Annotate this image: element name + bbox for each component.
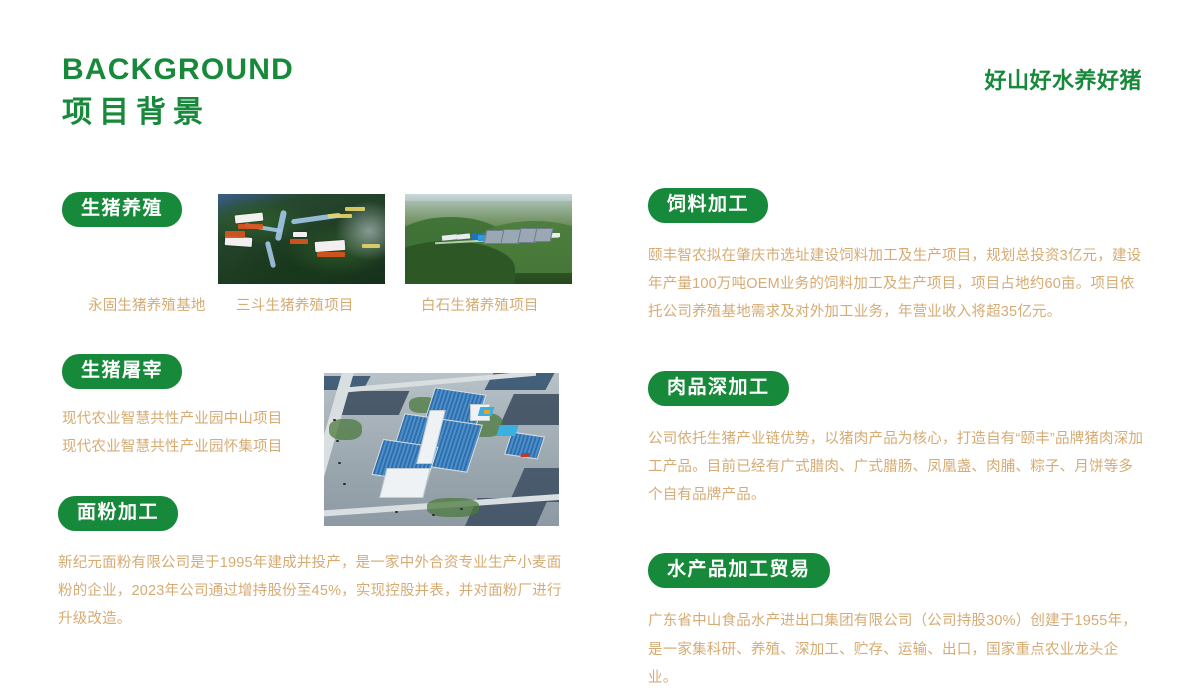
baishi-aerial-photo — [405, 194, 572, 284]
page-title-cn: 项目背景 — [62, 98, 294, 128]
right-column: 饲料加工 颐丰智农拟在肇庆市选址建设饲料加工及生产项目，规划总投资3亿元，建设年… — [648, 188, 1148, 692]
slogan: 好山好水养好猪 — [984, 63, 1142, 95]
aquatic-description: 广东省中山食品水产进出口集团有限公司（公司持股30%）创建于1955年，是一家集… — [648, 607, 1146, 692]
meat-description: 公司依托生猪产业链优势，以猪肉产品为核心，打造自有“颐丰”品牌猪肉深加工产品。目… — [648, 425, 1146, 510]
badge-feed[interactable]: 饲料加工 — [648, 188, 768, 223]
section-meat: 肉品深加工 公司依托生猪产业链优势，以猪肉产品为核心，打造自有“颐丰”品牌猪肉深… — [648, 371, 1148, 510]
industrial-park-aerial-photo — [324, 373, 559, 526]
caption-baishi: 白石生猪养殖项目 — [421, 294, 539, 315]
section-aquatic: 水产品加工贸易 广东省中山食品水产进出口集团有限公司（公司持股30%）创建于19… — [648, 553, 1148, 692]
badge-slaughter[interactable]: 生猪屠宰 — [62, 354, 182, 389]
caption-sandou: 三斗生猪养殖项目 — [236, 294, 354, 315]
badge-meat[interactable]: 肉品深加工 — [648, 371, 789, 406]
page-title: BACKGROUND 项目背景 — [62, 55, 294, 128]
badge-breeding[interactable]: 生猪养殖 — [62, 192, 182, 227]
badge-aquatic[interactable]: 水产品加工贸易 — [648, 553, 830, 588]
badge-flour[interactable]: 面粉加工 — [58, 496, 178, 531]
sandou-aerial-photo — [218, 194, 385, 284]
slaughter-project-list: 现代农业智慧共性产业园中山项目 现代农业智慧共性产业园怀集项目 — [62, 405, 283, 462]
left-column: 生猪养殖 — [58, 188, 588, 634]
slaughter-project-huaiji: 现代农业智慧共性产业园怀集项目 — [62, 433, 283, 461]
section-breeding: 生猪养殖 — [58, 188, 588, 318]
caption-yonggu: 永固生猪养殖基地 — [88, 294, 206, 315]
breeding-photo-row — [218, 194, 572, 284]
section-feed: 饲料加工 颐丰智农拟在肇庆市选址建设饲料加工及生产项目，规划总投资3亿元，建设年… — [648, 188, 1148, 327]
slide-root: BACKGROUND 项目背景 好山好水养好猪 生猪养殖 — [0, 0, 1200, 682]
page-title-en: BACKGROUND — [62, 55, 294, 85]
flour-description: 新纪元面粉有限公司是于1995年建成并投产，是一家中外合资专业生产小麦面粉的企业… — [58, 549, 574, 634]
slaughter-project-zhongshan: 现代农业智慧共性产业园中山项目 — [62, 405, 283, 433]
feed-description: 颐丰智农拟在肇庆市选址建设饲料加工及生产项目，规划总投资3亿元，建设年产量100… — [648, 242, 1146, 327]
